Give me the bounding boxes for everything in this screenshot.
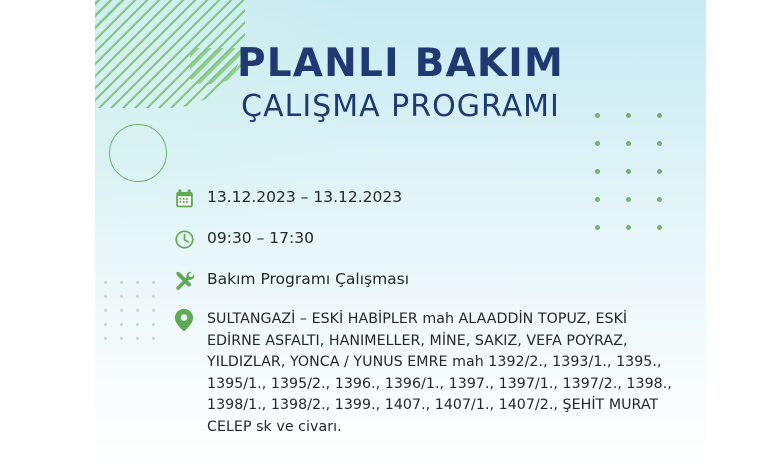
grid-dot (152, 309, 155, 312)
grid-dot (136, 281, 139, 284)
address-line: YILDIZLAR, YONCA / YUNUS EMRE mah 1392/2… (207, 352, 672, 374)
grid-dot (626, 141, 631, 146)
address-line: EDİRNE ASFALTI, HANIMELLER, MİNE, SAKIZ,… (207, 331, 672, 353)
page-title: PLANLI BAKIM (95, 44, 706, 84)
time-range-text: 09:30 – 17:30 (207, 227, 314, 249)
location-pin-icon (172, 308, 196, 332)
grid-dot (120, 337, 123, 340)
address-line: 1395/1., 1395/2., 1396., 1396/1., 1397.,… (207, 374, 672, 396)
grid-dot (120, 281, 123, 284)
circle-outline-decoration (109, 124, 167, 182)
grid-dot (104, 337, 107, 340)
grid-dot (136, 295, 139, 298)
grid-dot (120, 309, 123, 312)
poster-heading: PLANLI BAKIM ÇALIŞMA PROGRAMI (95, 44, 706, 123)
clock-icon (172, 227, 196, 251)
work-type-text: Bakım Programı Çalışması (207, 268, 409, 290)
grid-dot (152, 337, 155, 340)
grid-dot (152, 295, 155, 298)
info-block: 13.12.2023 – 13.12.2023 09:30 – 17:30 (172, 186, 672, 438)
grid-dot (657, 141, 662, 146)
grid-dot (120, 323, 123, 326)
grid-dot (595, 169, 600, 174)
grid-dot (152, 281, 155, 284)
address-text: SULTANGAZİ – ESKİ HABİPLER mah ALAADDİN … (207, 309, 672, 438)
grid-dot (104, 281, 107, 284)
grid-dot (136, 323, 139, 326)
calendar-icon (172, 186, 196, 210)
address-line: SULTANGAZİ – ESKİ HABİPLER mah ALAADDİN … (207, 309, 672, 331)
tools-icon (172, 268, 196, 292)
date-range-text: 13.12.2023 – 13.12.2023 (207, 186, 402, 208)
grid-dot (657, 169, 662, 174)
info-row-address: SULTANGAZİ – ESKİ HABİPLER mah ALAADDİN … (172, 309, 672, 438)
address-line: CELEP sk ve civarı. (207, 417, 672, 439)
info-row-time: 09:30 – 17:30 (172, 227, 672, 251)
grid-dot (104, 323, 107, 326)
grid-dot (595, 141, 600, 146)
grid-dot (104, 309, 107, 312)
grid-dot (120, 295, 123, 298)
grid-dot (152, 323, 155, 326)
poster-frame: PLANLI BAKIM ÇALIŞMA PROGRAMI (0, 0, 767, 472)
page-subtitle: ÇALIŞMA PROGRAMI (95, 90, 706, 124)
grid-dot (104, 295, 107, 298)
grid-dot (136, 309, 139, 312)
grid-dot (136, 337, 139, 340)
info-row-worktype: Bakım Programı Çalışması (172, 268, 672, 292)
poster-card: PLANLI BAKIM ÇALIŞMA PROGRAMI (95, 0, 706, 472)
dot-grid-left (104, 281, 168, 351)
info-row-date: 13.12.2023 – 13.12.2023 (172, 186, 672, 210)
address-line: 1398/1., 1398/2., 1399., 1407., 1407/1.,… (207, 395, 672, 417)
grid-dot (626, 169, 631, 174)
